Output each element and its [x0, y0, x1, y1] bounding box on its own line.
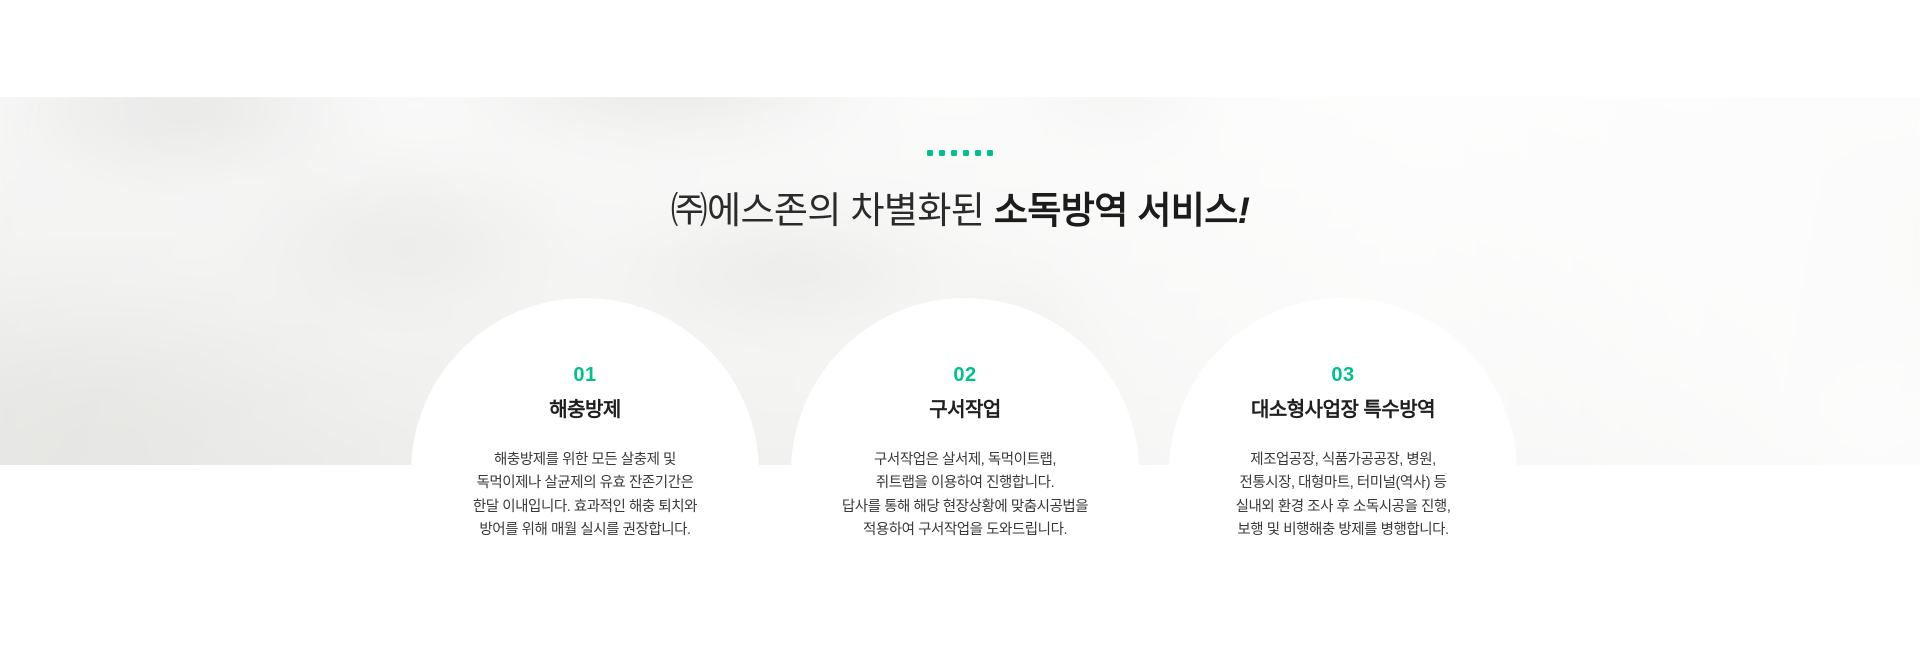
card-content: 02 구서작업 구서작업은 살서제, 독먹이트랩, 쥐트랩을 이용하여 진행합니…	[791, 298, 1139, 543]
card-number: 03	[1169, 365, 1517, 385]
card-number: 01	[411, 365, 759, 385]
service-card[interactable]: 02 구서작업 구서작업은 살서제, 독먹이트랩, 쥐트랩을 이용하여 진행합니…	[791, 298, 1139, 543]
card-content: 03 대소형사업장 특수방역 제조업공장, 식품가공공장, 병원, 전통시장, …	[1169, 298, 1517, 543]
service-card[interactable]: 03 대소형사업장 특수방역 제조업공장, 식품가공공장, 병원, 전통시장, …	[1169, 298, 1517, 543]
card-content: 01 해충방제 해충방제를 위한 모든 살충제 및 독먹이제나 살균제의 유효 …	[411, 298, 759, 543]
service-intro-section: ㈜에스존의 차별화된 소독방역 서비스! 01 해충방제 해충방제를 위한 모든…	[0, 0, 1920, 660]
card-description: 제조업공장, 식품가공공장, 병원, 전통시장, 대형마트, 터미널(역사) 등…	[1169, 449, 1517, 543]
service-card[interactable]: 01 해충방제 해충방제를 위한 모든 살충제 및 독먹이제나 살균제의 유효 …	[411, 298, 759, 543]
card-title: 대소형사업장 특수방역	[1169, 398, 1517, 422]
card-title: 해충방제	[411, 398, 759, 422]
card-title: 구서작업	[791, 398, 1139, 422]
service-card-list: 01 해충방제 해충방제를 위한 모든 살충제 및 독먹이제나 살균제의 유효 …	[0, 0, 1920, 660]
card-number: 02	[791, 365, 1139, 385]
card-description: 구서작업은 살서제, 독먹이트랩, 쥐트랩을 이용하여 진행합니다. 답사를 통…	[791, 449, 1139, 543]
card-description: 해충방제를 위한 모든 살충제 및 독먹이제나 살균제의 유효 잔존기간은 한달…	[411, 449, 759, 543]
